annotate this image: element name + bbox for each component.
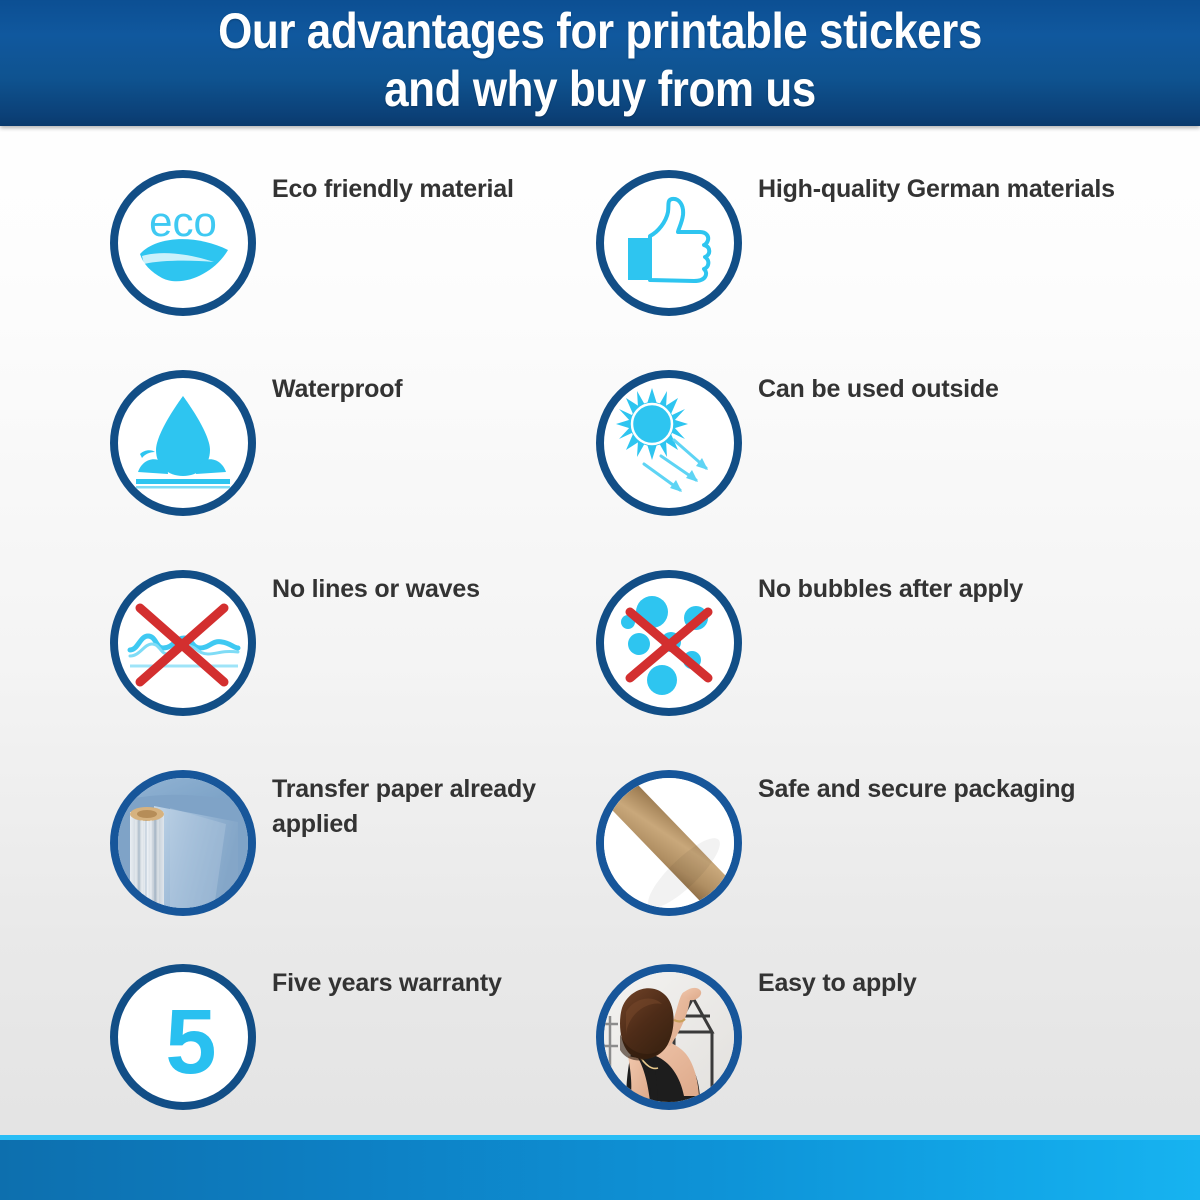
svg-text:eco: eco (149, 198, 217, 245)
feature-safe-packaging: Safe and secure packaging (596, 770, 1076, 920)
feature-no-lines-waves: No lines or waves (110, 570, 590, 720)
no-waves-icon (110, 570, 256, 716)
feature-german-materials: High-quality German materials (596, 170, 1076, 320)
sun-rays-icon (596, 370, 742, 516)
feature-label: Easy to apply (758, 966, 1158, 1001)
feature-eco-friendly: eco Eco friendly material (110, 170, 590, 320)
feature-waterproof: Waterproof (110, 370, 590, 520)
feature-five-year-warranty: 5 Five years warranty (110, 964, 590, 1114)
feature-label: Safe and secure packaging (758, 772, 1158, 807)
feature-no-bubbles: No bubbles after apply (596, 570, 1076, 720)
feature-label: Eco friendly material (272, 172, 592, 207)
feature-label: Transfer paper already applied (272, 772, 592, 842)
features-grid: eco Eco friendly material High-quality G… (0, 126, 1200, 1140)
feature-outside-use: Can be used outside (596, 370, 1076, 520)
mailing-tube-photo (596, 770, 742, 916)
feature-transfer-paper: Transfer paper already applied (110, 770, 590, 920)
number-five-label: 5 (118, 972, 256, 1110)
person-applying-decal-photo (596, 964, 742, 1110)
no-bubbles-icon (596, 570, 742, 716)
feature-label: High-quality German materials (758, 172, 1158, 207)
thumbs-up-icon (596, 170, 742, 316)
advantages-infographic: Our advantages for printable stickers an… (0, 0, 1200, 1200)
header-banner: Our advantages for printable stickers an… (0, 0, 1200, 126)
footer-banner (0, 1135, 1200, 1200)
eco-leaf-icon: eco (110, 170, 256, 316)
feature-label: Five years warranty (272, 966, 592, 1001)
feature-easy-to-apply: Easy to apply (596, 964, 1076, 1114)
page-title: Our advantages for printable stickers an… (72, 2, 1128, 118)
feature-label: Can be used outside (758, 372, 1158, 407)
water-drop-icon (110, 370, 256, 516)
transfer-film-roll-photo (110, 770, 256, 916)
feature-label: Waterproof (272, 372, 592, 407)
feature-label: No lines or waves (272, 572, 592, 607)
number-five-icon: 5 (110, 964, 256, 1110)
feature-label: No bubbles after apply (758, 572, 1158, 607)
